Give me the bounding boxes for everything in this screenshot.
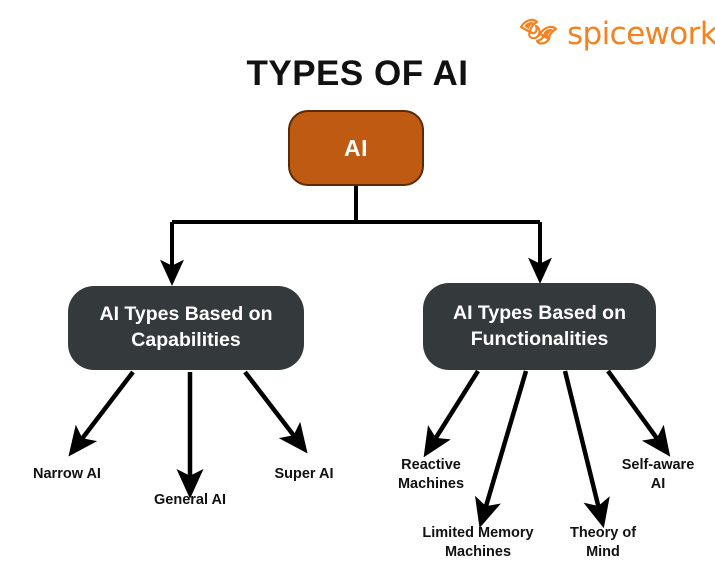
leaf-reactive-machines: Reactive Machines — [378, 456, 484, 493]
leaf-self-aware-ai: Self-aware AI — [608, 456, 708, 493]
leaf-narrow-ai: Narrow AI — [8, 465, 126, 484]
spiceworks-logo-icon — [516, 14, 560, 54]
node-ai-types-capabilities-label: AI Types Based on Capabilities — [78, 302, 294, 353]
connector-functionalities-reactive — [432, 371, 478, 444]
diagram-canvas: spiceworks TYPES OF AI AI AI Types Based… — [0, 0, 715, 585]
node-ai-types-functionalities[interactable]: AI Types Based on Functionalities — [423, 283, 656, 370]
spiceworks-logo[interactable]: spiceworks — [516, 14, 715, 54]
root-connector — [172, 186, 540, 222]
leaf-theory-of-mind: Theory of Mind — [553, 524, 653, 561]
node-ai-root[interactable]: AI — [288, 110, 424, 186]
connector-functionalities-theory — [565, 371, 600, 513]
connector-functionalities-selfaware — [608, 371, 661, 444]
connector-capabilities-narrow — [78, 372, 133, 444]
connector-capabilities-super — [245, 372, 298, 441]
node-ai-types-capabilities[interactable]: AI Types Based on Capabilities — [68, 286, 304, 370]
connector-functionalities-limited — [484, 371, 526, 513]
leaf-general-ai: General AI — [131, 491, 249, 510]
node-ai-types-functionalities-label: AI Types Based on Functionalities — [431, 301, 648, 352]
page-title: TYPES OF AI — [0, 54, 715, 94]
spiceworks-wordmark: spiceworks — [567, 19, 715, 50]
leaf-limited-memory-machines: Limited Memory Machines — [399, 524, 557, 561]
leaf-super-ai: Super AI — [252, 465, 356, 484]
node-ai-root-label: AI — [344, 135, 368, 162]
